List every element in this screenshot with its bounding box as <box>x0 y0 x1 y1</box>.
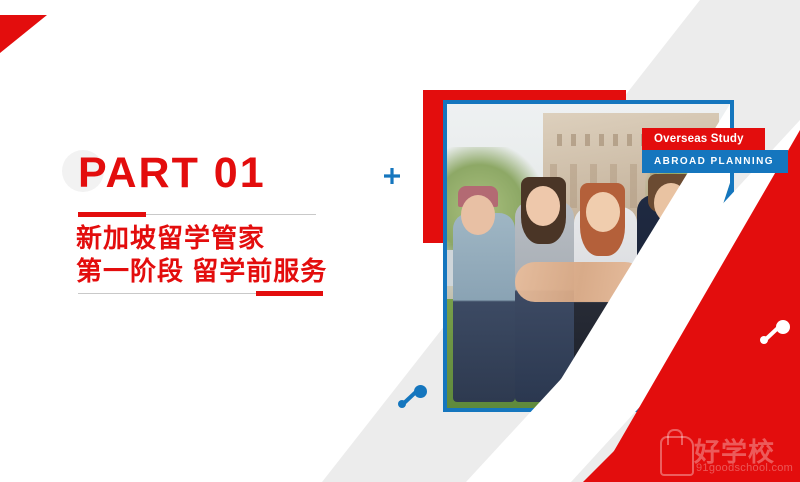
presentation-slide: Overseas Study ABROAD PLANNING PART 01 新… <box>0 0 800 482</box>
headline-line-1: 新加坡留学管家 <box>76 222 327 255</box>
plus-icon <box>384 168 400 184</box>
dot-link-icon-blue <box>398 385 432 413</box>
headline: 新加坡留学管家 第一阶段 留学前服务 <box>76 222 327 289</box>
photo-person-1 <box>453 213 515 401</box>
photo-person-3-head <box>586 192 620 232</box>
part-label: PART 01 <box>78 152 266 195</box>
badge-title: Overseas Study <box>642 128 765 150</box>
dot-link-icon-white <box>760 320 794 348</box>
divider-top <box>78 212 316 217</box>
divider-bottom <box>78 291 323 296</box>
photo-person-1-head <box>461 195 495 235</box>
headline-line-2: 第一阶段 留学前服务 <box>76 255 327 288</box>
overseas-study-badge: Overseas Study ABROAD PLANNING <box>642 128 765 173</box>
badge-subtitle: ABROAD PLANNING <box>642 150 788 173</box>
corner-triangle-top-left <box>0 15 47 53</box>
photo-person-2-head <box>526 186 560 226</box>
